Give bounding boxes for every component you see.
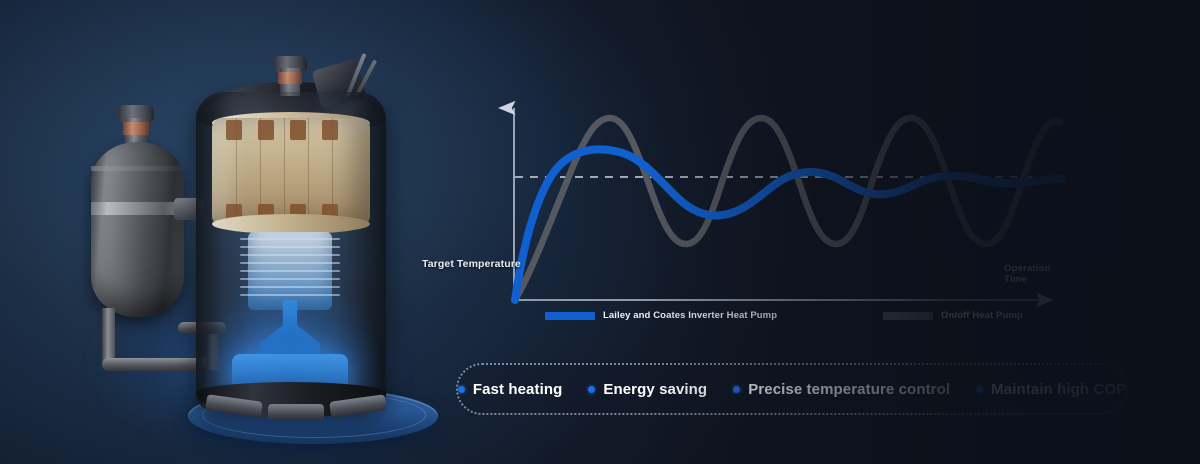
feature-highlight-bar: Fast heating Energy saving Precise tempe…: [456, 363, 1128, 415]
compressor-product-image: [78, 30, 408, 430]
legend-label-onoff: On/off Heat Pump: [941, 310, 1023, 321]
feature-item-fast-heating: Fast heating: [458, 381, 563, 398]
feature-item-energy-saving: Energy saving: [588, 381, 707, 398]
performance-chart: Target Temperature Operation Time: [414, 92, 1074, 322]
accumulator-copper-ring: [123, 122, 149, 135]
chart-svg: [414, 92, 1074, 322]
legend-item-inverter: Lailey and Coates Inverter Heat Pump: [545, 310, 777, 321]
bullet-dot-icon: [733, 386, 740, 393]
feature-label: Fast heating: [473, 381, 563, 398]
target-temperature-label: Target Temperature: [422, 258, 521, 270]
accumulator-band: [91, 202, 184, 215]
compressor-shell: [196, 92, 386, 410]
hero-banner: Target Temperature Operation Time Lailey…: [0, 0, 1200, 464]
legend-swatch-onoff: [883, 312, 933, 320]
legend-item-onoff: On/off Heat Pump: [883, 310, 1023, 321]
feature-label: Energy saving: [603, 381, 707, 398]
accumulator-seam: [91, 166, 184, 171]
series-onoff-heat-pump: [515, 118, 1060, 300]
bullet-dot-icon: [458, 386, 465, 393]
legend-swatch-inverter: [545, 312, 595, 320]
bullet-dot-icon: [976, 386, 983, 393]
mounting-foot-center: [268, 404, 324, 420]
cutaway-glass-overlay: [196, 92, 386, 410]
feature-item-precise-temperature-control: Precise temperature control: [733, 381, 950, 398]
legend-label-inverter: Lailey and Coates Inverter Heat Pump: [603, 310, 777, 321]
chart-legend: Lailey and Coates Inverter Heat Pump On/…: [545, 310, 1105, 332]
series-inverter-heat-pump: [515, 149, 1062, 300]
operation-time-label: Operation Time: [1004, 263, 1074, 285]
feature-label: Precise temperature control: [748, 381, 950, 398]
bullet-dot-icon: [588, 386, 595, 393]
feature-item-maintain-high-cop: Maintain high COP: [976, 381, 1126, 398]
feature-label: Maintain high COP: [991, 381, 1126, 398]
discharge-port-copper: [278, 72, 302, 84]
